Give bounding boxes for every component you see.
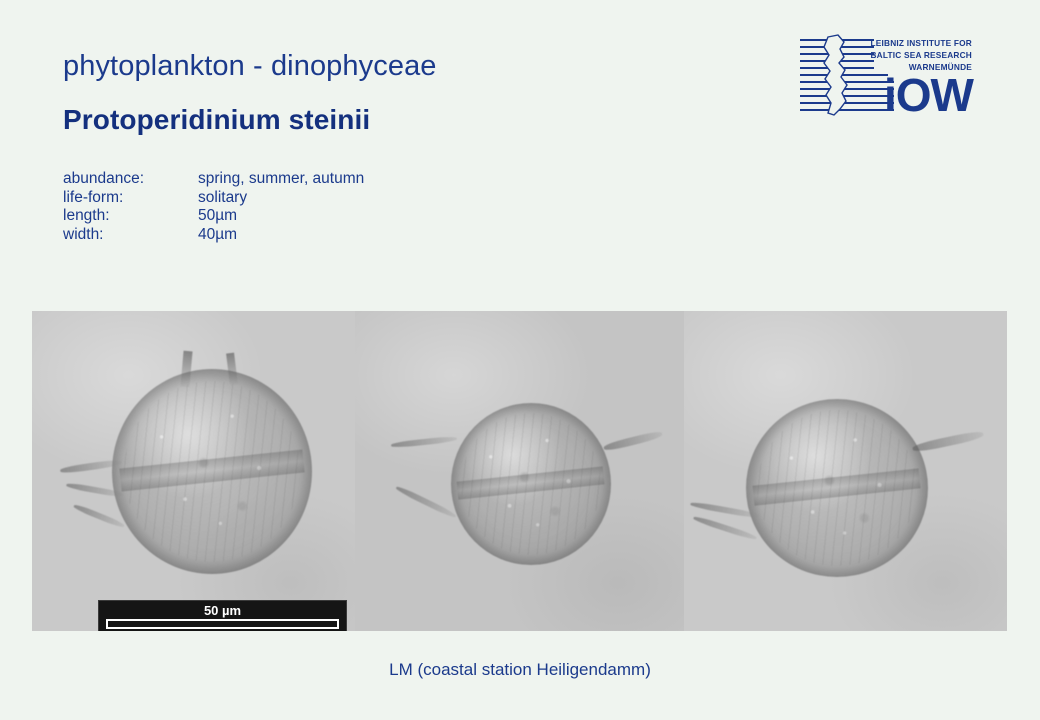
metadata-row-life-form: life-form: solitary: [63, 189, 364, 208]
logo-text-line1: LEIBNIZ INSTITUTE FOR: [871, 38, 972, 48]
metadata-label-life-form: life-form:: [63, 189, 198, 208]
iow-logo: LEIBNIZ INSTITUTE FOR BALTIC SEA RESEARC…: [798, 33, 974, 117]
metadata-row-width: width: 40µm: [63, 226, 364, 245]
plate-caption: LM (coastal station Heiligendamm): [0, 660, 1040, 680]
scale-bar: 50 µm: [98, 600, 347, 631]
dinoflagellate-cell: [746, 399, 928, 577]
micrograph-panel-right: [684, 311, 1007, 631]
metadata-label-width: width:: [63, 226, 198, 245]
page-title-species: Protoperidinium steinii: [63, 104, 370, 136]
dinoflagellate-cell: [451, 403, 611, 565]
logo-wordmark: iOW: [884, 69, 974, 117]
metadata-value-length: 50µm: [198, 207, 364, 226]
metadata-value-life-form: solitary: [198, 189, 364, 208]
micrograph-panel-left: [32, 311, 355, 631]
micrograph-panel-center: [355, 311, 684, 631]
metadata-row-length: length: 50µm: [63, 207, 364, 226]
page-title-group: phytoplankton - dinophyceae: [63, 50, 437, 83]
species-metadata-list: abundance: spring, summer, autumn life-f…: [63, 170, 364, 244]
scale-bar-label: 50 µm: [99, 601, 346, 620]
metadata-label-abundance: abundance:: [63, 170, 198, 189]
micrograph-plate: 50 µm: [32, 311, 1007, 631]
metadata-value-width: 40µm: [198, 226, 364, 245]
logo-text-line2: BALTIC SEA RESEARCH: [870, 50, 972, 60]
metadata-value-abundance: spring, summer, autumn: [198, 170, 364, 189]
scale-bar-rule: [106, 619, 339, 629]
metadata-label-length: length:: [63, 207, 198, 226]
dinoflagellate-cell: [112, 369, 312, 574]
metadata-row-abundance: abundance: spring, summer, autumn: [63, 170, 364, 189]
